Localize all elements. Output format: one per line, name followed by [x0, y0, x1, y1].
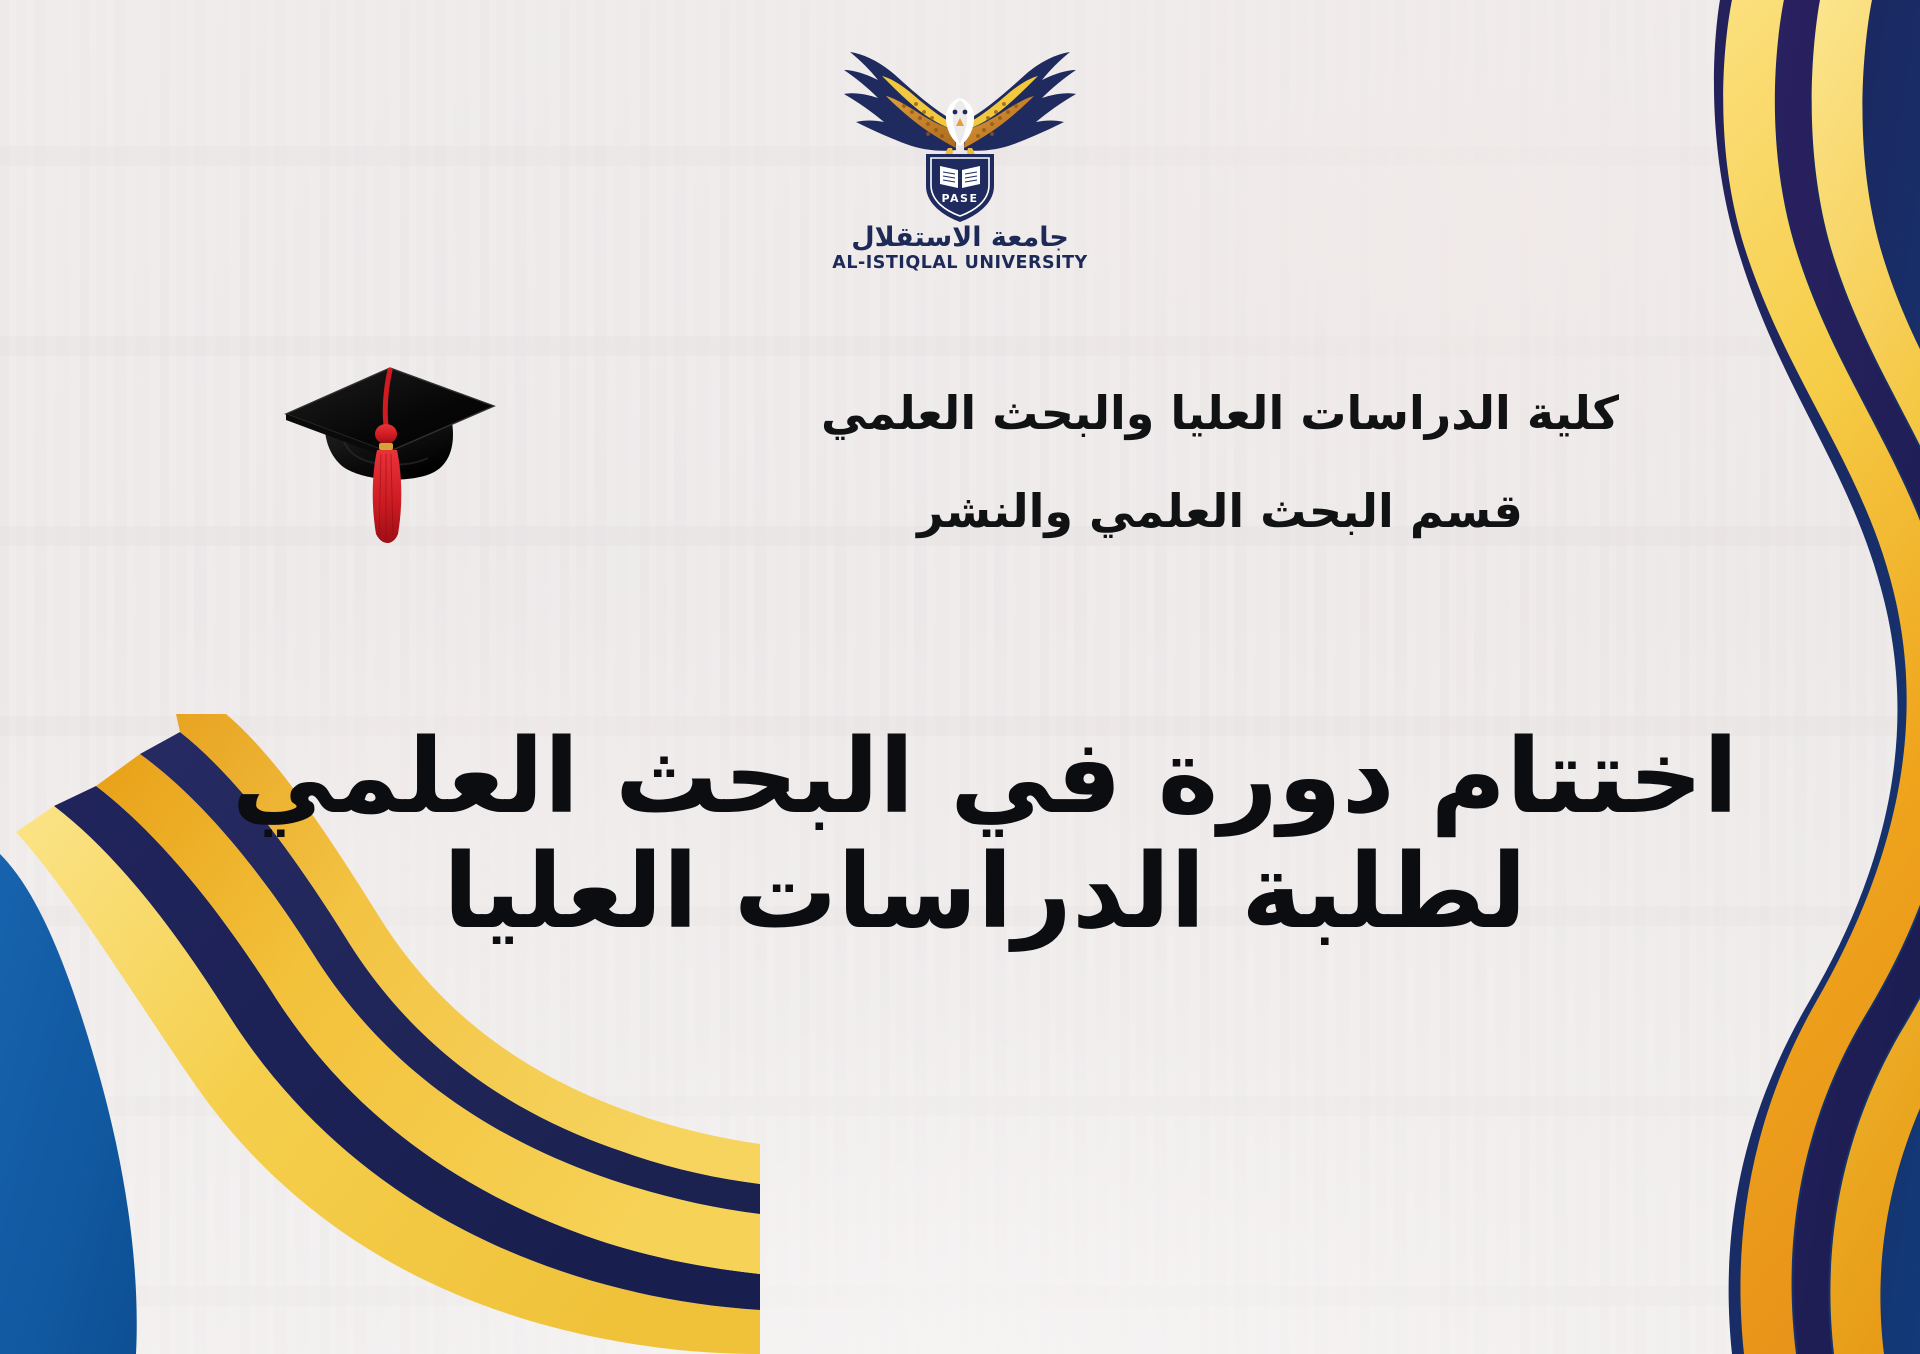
poster-canvas: PASE جامعة الاستقلال AL-ISTIQLAL UNIVERS… — [0, 0, 1920, 1354]
shield-text: PASE — [941, 192, 978, 205]
university-logo: PASE جامعة الاستقلال AL-ISTIQLAL UNIVERS… — [810, 26, 1110, 273]
department-line: قسم البحث العلمي والنشر — [675, 488, 1765, 534]
logo-name-arabic: جامعة الاستقلال — [851, 224, 1069, 251]
title-line-1: اختتام دورة في البحث العلمي — [90, 720, 1880, 835]
graduation-cap-icon — [278, 348, 508, 578]
faculty-line: كلية الدراسات العليا والبحث العلمي — [675, 390, 1765, 436]
title-line-2: لطلبة الدراسات العليا — [90, 835, 1880, 950]
logo-name-english: AL-ISTIQLAL UNIVERSITY — [832, 255, 1087, 273]
eagle-crest-logo-icon: PASE — [830, 26, 1090, 226]
subtitle-block: كلية الدراسات العليا والبحث العلمي قسم ا… — [675, 390, 1765, 534]
page-title: اختتام دورة في البحث العلمي لطلبة الدراس… — [90, 720, 1880, 951]
